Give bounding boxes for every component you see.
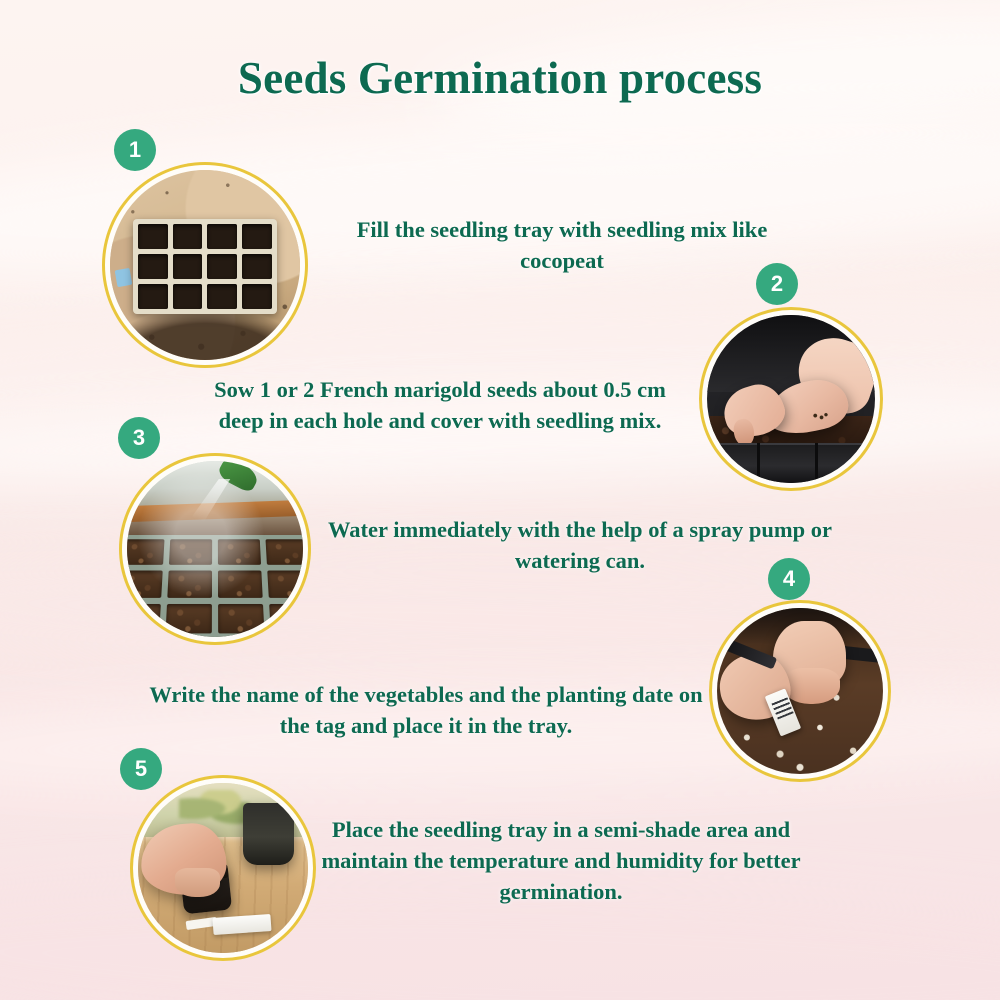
step-photo-5-image xyxy=(138,783,308,953)
step-badge-3: 3 xyxy=(118,417,160,459)
step-photo-4-image xyxy=(717,608,883,774)
step-badge-4: 4 xyxy=(768,558,810,600)
step-badge-2: 2 xyxy=(756,263,798,305)
step-photo-1-image xyxy=(110,170,300,360)
step-text-1: Fill the seedling tray with seedling mix… xyxy=(318,214,806,276)
step-photo-1 xyxy=(105,165,305,365)
step-photo-5 xyxy=(133,778,313,958)
step-badge-1: 1 xyxy=(114,129,156,171)
step-text-4: Write the name of the vegetables and the… xyxy=(148,679,704,741)
step-text-3: Water immediately with the help of a spr… xyxy=(310,514,850,576)
page-title: Seeds Germination process xyxy=(0,52,1000,104)
step-photo-4 xyxy=(712,603,888,779)
step-photo-3 xyxy=(122,456,308,642)
infographic-poster: Seeds Germination process 1 Fill the see… xyxy=(0,0,1000,1000)
step-photo-2-image xyxy=(707,315,875,483)
step-photo-2 xyxy=(702,310,880,488)
step-photo-3-image xyxy=(127,461,303,637)
step-text-5: Place the seedling tray in a semi-shade … xyxy=(318,814,804,907)
step-text-2: Sow 1 or 2 French marigold seeds about 0… xyxy=(195,374,685,436)
